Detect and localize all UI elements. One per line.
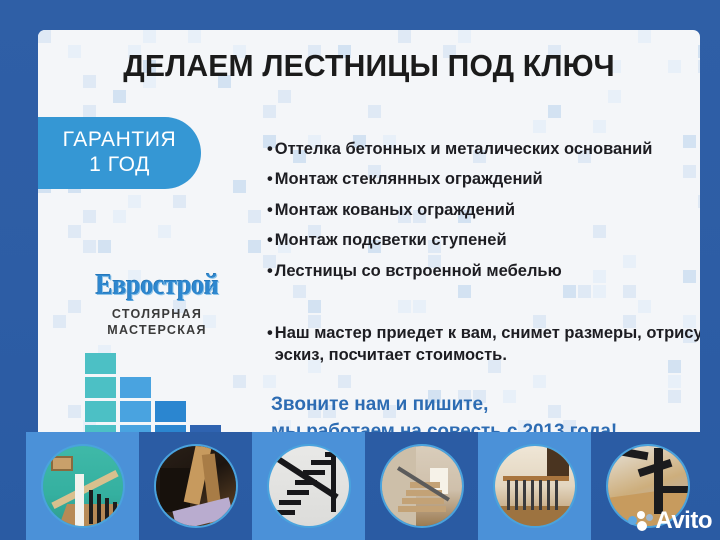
call-to-action: Звоните нам и пишите, мы работаем на сов… [271, 392, 700, 432]
thumbnail-staircase-4[interactable] [380, 444, 464, 528]
mosaic-square [38, 30, 51, 43]
guarantee-badge-line-2: 1 ГОД [89, 153, 150, 178]
bullet-marker-icon: • [267, 140, 273, 159]
avito-watermark: Avito [628, 508, 712, 534]
service-item: •Оттелка бетонных и металических основан… [267, 140, 700, 159]
bullet-marker-icon: • [267, 262, 273, 281]
chart-cell [120, 377, 151, 398]
guarantee-badge: ГАРАНТИЯ 1 ГОД [38, 117, 201, 189]
logo-subtitle-1: СТОЛЯРНАЯ [82, 307, 232, 323]
chart-cell [85, 377, 116, 398]
mosaic-square [68, 300, 81, 313]
mosaic-square [248, 240, 261, 253]
photo-strip: Avito [0, 432, 720, 540]
mosaic-square [668, 375, 681, 388]
mosaic-square [98, 240, 111, 253]
company-logo: Еврострой СТОЛЯРНАЯ МАСТЕРСКАЯ [82, 270, 232, 338]
page-title: ДЕЛАЕМ ЛЕСТНИЦЫ ПОД КЛЮЧ [48, 48, 690, 84]
avito-logo-icon [628, 510, 654, 532]
cta-line-1: Звоните нам и пишите, [271, 392, 700, 419]
cta-line-2: мы работаем на совесть с 2013 года! [271, 419, 700, 432]
logo-subtitle-2: МАСТЕРСКАЯ [82, 323, 232, 339]
mosaic-square [458, 30, 471, 43]
mosaic-square [68, 405, 81, 418]
mosaic-square [398, 300, 411, 313]
bullet-marker-icon: • [267, 231, 273, 250]
mosaic-square [128, 195, 141, 208]
bullet-marker-icon: • [267, 201, 273, 220]
mosaic-square [278, 90, 291, 103]
thumbnail-staircase-3[interactable] [267, 444, 351, 528]
mosaic-square [233, 180, 246, 193]
mosaic-square [83, 240, 96, 253]
mosaic-square [638, 300, 651, 313]
bullet-marker-icon: • [267, 170, 273, 189]
service-item-label: Монтаж стеклянных ограждений [275, 170, 543, 189]
mosaic-square [533, 375, 546, 388]
logo-name: Еврострой [82, 268, 232, 302]
mosaic-square [143, 30, 156, 43]
mosaic-square [68, 225, 81, 238]
chart-cell [155, 401, 186, 422]
service-item: •Монтаж подсветки ступеней [267, 231, 700, 250]
service-item-label: Лестницы со встроенной мебелью [275, 262, 562, 281]
chart-cell [120, 401, 151, 422]
content-card: ДЕЛАЕМ ЛЕСТНИЦЫ ПОД КЛЮЧ •Оттелка бетонн… [38, 30, 700, 432]
mosaic-square [308, 300, 321, 313]
offer-paragraph-text: Наш мастер приедет к вам, снимет размеры… [275, 322, 700, 367]
guarantee-badge-line-1: ГАРАНТИЯ [63, 128, 177, 153]
chart-cell [120, 425, 151, 432]
thumbnail-staircase-5[interactable] [493, 444, 577, 528]
chart-cell [85, 425, 116, 432]
mosaic-square [398, 30, 411, 43]
mosaic-square [533, 120, 546, 133]
avito-watermark-text: Avito [655, 509, 712, 533]
mosaic-square [698, 60, 700, 73]
mosaic-square [263, 105, 276, 118]
mosaic-square [113, 90, 126, 103]
mosaic-square [608, 90, 621, 103]
mosaic-square [173, 195, 186, 208]
staircase-bar-chart [85, 353, 245, 432]
mosaic-square [593, 120, 606, 133]
service-item: •Лестницы со встроенной мебелью [267, 262, 700, 281]
mosaic-square [413, 300, 426, 313]
thumbnail-staircase-1[interactable] [41, 444, 125, 528]
mosaic-square [53, 315, 66, 328]
advertisement-poster: ДЕЛАЕМ ЛЕСТНИЦЫ ПОД КЛЮЧ •Оттелка бетонн… [0, 0, 720, 540]
mosaic-square [698, 45, 700, 58]
chart-cell [155, 425, 186, 432]
mosaic-square [113, 210, 126, 223]
mosaic-square [338, 375, 351, 388]
thumbnail-staircase-2[interactable] [154, 444, 238, 528]
chart-cell [190, 425, 221, 432]
mosaic-square [158, 225, 171, 238]
mosaic-square [548, 105, 561, 118]
service-item: •Монтаж стеклянных ограждений [267, 170, 700, 189]
chart-cell [85, 401, 116, 422]
chart-cell [85, 353, 116, 374]
mosaic-square [248, 210, 261, 223]
mosaic-square [368, 105, 381, 118]
offer-paragraph: • Наш мастер приедет к вам, снимет разме… [267, 322, 700, 367]
service-item: •Монтаж кованых ограждений [267, 201, 700, 220]
mosaic-square [263, 375, 276, 388]
mosaic-square [638, 30, 651, 43]
services-list: •Оттелка бетонных и металических основан… [267, 140, 700, 292]
mosaic-square [188, 30, 201, 43]
bullet-marker-icon: • [267, 322, 273, 344]
mosaic-square [83, 210, 96, 223]
service-item-label: Монтаж кованых ограждений [275, 201, 515, 220]
service-item-label: Монтаж подсветки ступеней [275, 231, 507, 250]
service-item-label: Оттелка бетонных и металических основани… [275, 140, 653, 159]
